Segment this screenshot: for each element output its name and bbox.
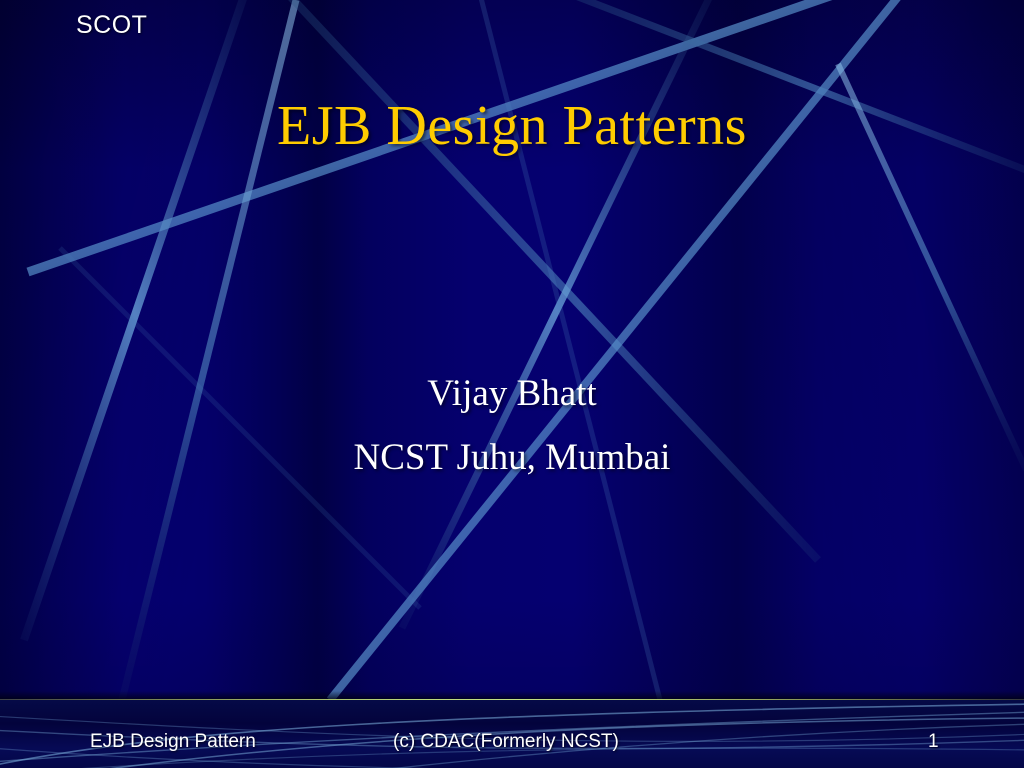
footer-copyright-text: (c) CDAC(Formerly NCST) <box>393 731 619 753</box>
slide-subtitle: Vijay Bhatt NCST Juhu, Mumbai <box>0 362 1024 489</box>
subtitle-line-author: Vijay Bhatt <box>0 362 1024 426</box>
footer-left-text: EJB Design Pattern <box>90 731 256 753</box>
subtitle-line-affiliation: NCST Juhu, Mumbai <box>0 426 1024 490</box>
organization-mark: SCOT <box>76 11 147 40</box>
page-title: EJB Design Patterns <box>0 96 1024 158</box>
footer-page-number: 1 <box>928 731 939 753</box>
slide-canvas: SCOT EJB Design Patterns Vijay Bhatt NCS… <box>0 0 1024 768</box>
